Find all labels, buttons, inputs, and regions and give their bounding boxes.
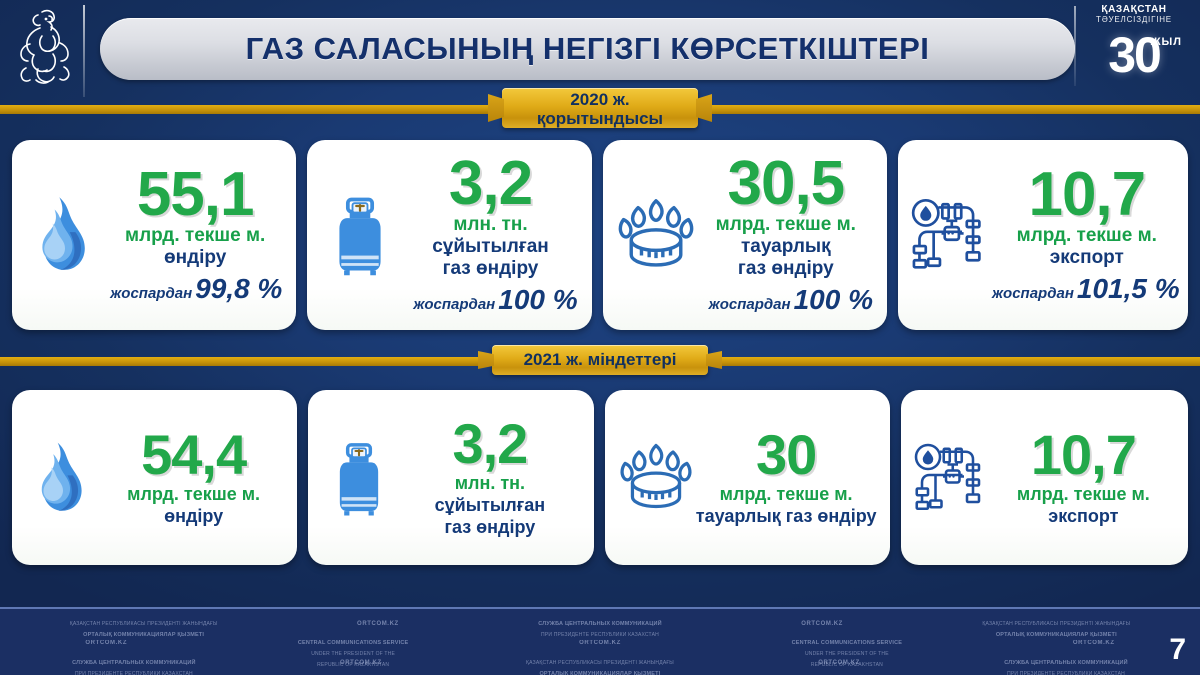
snow-leopard-emblem [12, 6, 74, 88]
plan-value: 100 % [794, 284, 873, 315]
logo-line-kazakhstan: ҚАЗАҚСТАН [1082, 4, 1186, 15]
watermark-ru-line1: СЛУЖБА ЦЕНТРАЛЬНЫХ КОММУНИКАЦИЙ [1004, 660, 1128, 666]
metric-card-body: 55,1 млрд. текше м. өндіру жоспардан99,8… [106, 166, 284, 305]
metric-value: 3,2 [401, 155, 579, 213]
watermark-kz-line1: ҚАЗАҚСТАН РЕСПУБЛИКАСЫ ПРЕЗИДЕНТІ ЖАНЫНД… [70, 621, 218, 627]
plan-word: жоспардан [413, 296, 495, 313]
metric-card-export-2021[interactable]: 10,7 млрд. текше м. экспорт [901, 390, 1188, 565]
metric-card-commodity-gas-2021[interactable]: 30 млрд. текше м. тауарлық газ өндіру [605, 390, 890, 565]
metric-value: 10,7 [992, 166, 1182, 224]
watermark-domain-text: ORTCOM.KZ [85, 640, 127, 646]
metric-unit: млрд. текше м. [695, 483, 878, 505]
logo-years-label: ЖЫЛ [1151, 36, 1182, 48]
page-title: ГАЗ САЛАСЫНЫҢ НЕГІЗГІ КӨРСЕТКІШТЕРІ [246, 31, 930, 67]
watermark-kz-line1: ҚАЗАҚСТАН РЕСПУБЛИКАСЫ ПРЕЗИДЕНТІ ЖАНЫНД… [526, 660, 674, 666]
gas-flame-icon [24, 439, 102, 517]
metric-label: өндіру [102, 505, 285, 527]
watermark-domain-text: ORTCOM.KZ [801, 621, 843, 627]
watermark-domain: ORTCOM.KZ [818, 656, 860, 675]
logo-divider [1074, 6, 1076, 86]
plan-value: 100 % [498, 284, 577, 315]
metric-label-line2: газ өндіру [401, 258, 579, 280]
plan-fulfilment: жоспардан101,5 % [992, 273, 1182, 305]
metric-card-body: 10,7 млрд. текше м. экспорт жоспардан101… [992, 166, 1182, 305]
metric-label-line2: газ өндіру [398, 516, 581, 538]
metric-label-line1: сұйытылған [401, 236, 579, 258]
plan-word: жоспардан [709, 296, 791, 313]
watermark-domain-text: ORTCOM.KZ [818, 660, 860, 666]
metric-label: тауарлық газ өндіру [695, 505, 878, 527]
metric-unit: млрд. текше м. [102, 483, 285, 505]
metric-label-line2: газ өндіру [697, 258, 875, 280]
watermark-domain-text: ORTCOM.KZ [340, 660, 382, 666]
watermark-ru: СЛУЖБА ЦЕНТРАЛЬНЫХ КОММУНИКАЦИЙ ПРИ ПРЕЗ… [1004, 656, 1128, 675]
metric-card-lpg-2021[interactable]: 3,2 млн. тн. сұйытылған газ өндіру [308, 390, 593, 565]
metric-value: 55,1 [106, 166, 284, 224]
metric-unit: млрд. текше м. [992, 225, 1182, 247]
page-number: 7 [1169, 633, 1186, 667]
metric-unit: млрд. текше м. [106, 225, 284, 247]
title-plate: ГАЗ САЛАСЫНЫҢ НЕГІЗГІ КӨРСЕТКІШТЕРІ [100, 18, 1075, 80]
watermark-ru-line2: ПРИ ПРЕЗИДЕНТЕ РЕСПУБЛИКИ КАЗАХСТАН [75, 671, 193, 675]
banner-2020-line1: 2020 ж. [570, 90, 629, 109]
metric-card-commodity-gas-2020[interactable]: 30,5 млрд. текше м. тауарлық газ өндіру … [603, 140, 887, 330]
watermark-domain-text: ORTCOM.KZ [579, 640, 621, 646]
metric-unit: млн. тн. [401, 214, 579, 236]
banner-2021-line1: 2021 ж. міндеттері [524, 350, 677, 370]
metric-card-lpg-2020[interactable]: 3,2 млн. тн. сұйытылған газ өндіру жоспа… [307, 140, 591, 330]
metric-label: өндіру [106, 247, 284, 269]
watermark-domain: ORTCOM.KZ [340, 656, 382, 675]
gas-flame-icon [24, 194, 106, 276]
plan-word: жоспардан [110, 285, 192, 302]
watermark-kz: ҚАЗАҚСТАН РЕСПУБЛИКАСЫ ПРЕЗИДЕНТІ ЖАНЫНД… [526, 656, 674, 675]
metric-unit: млн. тн. [398, 472, 581, 494]
footer-watermark-band: ҚАЗАҚСТАН РЕСПУБЛИКАСЫ ПРЕЗИДЕНТІ ЖАНЫНД… [0, 607, 1200, 675]
watermark-kz-line2: ОРТАЛЫҚ КОММУНИКАЦИЯЛАР ҚЫЗМЕТІ [539, 671, 660, 675]
gas-burner-icon [617, 438, 695, 518]
metric-label: экспорт [991, 505, 1176, 527]
metric-label-line1: тауарлық [697, 236, 875, 258]
metric-card-body: 54,4 млрд. текше м. өндіру [102, 428, 285, 527]
metric-card-body: 10,7 млрд. текше м. экспорт [991, 428, 1176, 527]
watermark-ru-line2: ПРИ ПРЕЗИДЕНТЕ РЕСПУБЛИКИ КАЗАХСТАН [1007, 671, 1125, 675]
metric-card-body: 3,2 млн. тн. сұйытылған газ өндіру жоспа… [401, 155, 579, 316]
watermark-ru: СЛУЖБА ЦЕНТРАЛЬНЫХ КОММУНИКАЦИЙ ПРИ ПРЕЗ… [72, 656, 196, 675]
pipeline-valve-icon [913, 437, 991, 519]
gas-burner-icon [615, 193, 697, 277]
header-divider [83, 5, 85, 97]
banner-2020-line2: қорытындысы [537, 109, 663, 128]
metric-unit: млрд. текше м. [991, 483, 1176, 505]
independence-30-logo: ҚАЗАҚСТАН ТӘУЕЛСІЗДІГІНЕ 30 ЖЫЛ [1082, 4, 1186, 88]
logo-line-independence: ТӘУЕЛСІЗДІГІНЕ [1082, 15, 1186, 25]
watermark-domain-text: ORTCOM.KZ [1073, 640, 1115, 646]
metric-card-body: 30 млрд. текше м. тауарлық газ өндіру [695, 428, 878, 527]
plan-word: жоспардан [992, 285, 1074, 302]
metric-card-production-2021[interactable]: 54,4 млрд. текше м. өндіру [12, 390, 297, 565]
gas-cylinder-icon [319, 191, 401, 279]
metric-value: 30 [695, 428, 878, 482]
metric-value: 10,7 [991, 428, 1176, 482]
watermark-domain-text: ORTCOM.KZ [357, 621, 399, 627]
plan-value: 99,8 % [195, 273, 282, 304]
watermark-kz-line1: ҚАЗАҚСТАН РЕСПУБЛИКАСЫ ПРЕЗИДЕНТІ ЖАНЫНД… [982, 621, 1130, 627]
metric-value: 3,2 [398, 417, 581, 471]
cards-row-2020-results: 55,1 млрд. текше м. өндіру жоспардан99,8… [12, 140, 1188, 330]
watermark-row: СЛУЖБА ЦЕНТРАЛЬНЫХ КОММУНИКАЦИЙ ПРИ ПРЕЗ… [0, 656, 1200, 675]
page-header: ГАЗ САЛАСЫНЫҢ НЕГІЗГІ КӨРСЕТКІШТЕРІ ҚАЗА… [0, 0, 1200, 100]
metric-card-production-2020[interactable]: 55,1 млрд. текше м. өндіру жоспардан99,8… [12, 140, 296, 330]
metric-unit: млрд. текше м. [697, 214, 875, 236]
metric-value: 30,5 [697, 155, 875, 213]
watermark-ru-line1: СЛУЖБА ЦЕНТРАЛЬНЫХ КОММУНИКАЦИЙ [72, 660, 196, 666]
watermark-ru-line1: СЛУЖБА ЦЕНТРАЛЬНЫХ КОММУНИКАЦИЙ [538, 621, 662, 627]
metric-card-body: 3,2 млн. тн. сұйытылған газ өндіру [398, 417, 581, 538]
gas-cylinder-icon [320, 437, 398, 519]
metric-card-export-2020[interactable]: 10,7 млрд. текше м. экспорт жоспардан101… [898, 140, 1188, 330]
watermark-en-line1: CENTRAL COMMUNICATIONS SERVICE [298, 640, 409, 646]
section-banner-2020: 2020 ж. қорытындысы [502, 88, 698, 128]
metric-card-body: 30,5 млрд. текше м. тауарлық газ өндіру … [697, 155, 875, 316]
plan-fulfilment: жоспардан99,8 % [106, 273, 284, 305]
metric-value: 54,4 [102, 428, 285, 482]
pipeline-valve-icon [910, 192, 992, 278]
metric-label-line1: сұйытылған [398, 494, 581, 516]
plan-fulfilment: жоспардан100 % [697, 284, 875, 316]
plan-fulfilment: жоспардан100 % [401, 284, 579, 316]
plan-value: 101,5 % [1077, 273, 1180, 304]
section-banner-2021: 2021 ж. міндеттері [492, 345, 708, 375]
watermark-en-line1: CENTRAL COMMUNICATIONS SERVICE [792, 640, 903, 646]
cards-row-2021-targets: 54,4 млрд. текше м. өндіру 3,2 млн. тн. … [12, 390, 1188, 565]
metric-label: экспорт [992, 247, 1182, 269]
